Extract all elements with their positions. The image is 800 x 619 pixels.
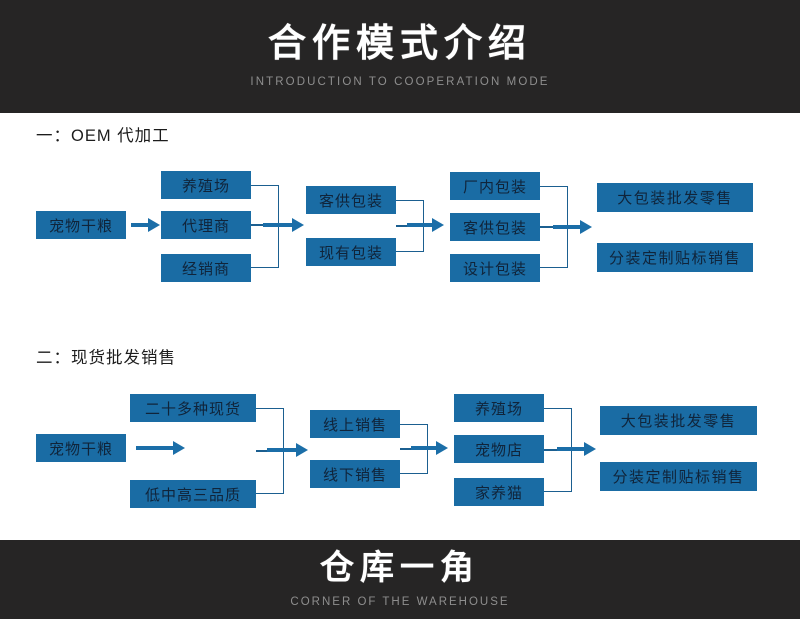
page-title: 合作模式介绍 xyxy=(268,25,532,65)
box-section2-col1-0: 宠物干粮 xyxy=(36,434,126,462)
arrow-section2-col3-col4 xyxy=(411,446,437,450)
box-section1-col3-0: 客供包装 xyxy=(306,186,396,214)
box-section1-col3-1: 现有包装 xyxy=(306,238,396,266)
arrow-section1-col3-col4 xyxy=(407,223,433,227)
box-section2-col4-2: 家养猫 xyxy=(454,478,544,506)
footer-banner: 仓库一角 CORNER OF THE WAREHOUSE xyxy=(0,540,800,619)
box-section1-col2-1: 代理商 xyxy=(161,211,251,239)
box-section2-col3-1: 线下销售 xyxy=(310,460,400,488)
page-root: 合作模式介绍 INTRODUCTION TO COOPERATION MODE … xyxy=(0,0,800,619)
box-section1-col5-1: 分装定制贴标销售 xyxy=(597,243,753,272)
box-section1-col4-1: 客供包装 xyxy=(450,213,540,241)
box-section1-col4-0: 厂内包装 xyxy=(450,172,540,200)
box-section1-col2-0: 养殖场 xyxy=(161,171,251,199)
header-banner: 合作模式介绍 INTRODUCTION TO COOPERATION MODE xyxy=(0,0,800,113)
arrow-section1-col1-col2 xyxy=(131,223,149,227)
box-section1-col1-0: 宠物干粮 xyxy=(36,211,126,239)
footer-title: 仓库一角 xyxy=(320,551,480,587)
box-section1-col5-0: 大包装批发零售 xyxy=(597,183,753,212)
page-subtitle: INTRODUCTION TO COOPERATION MODE xyxy=(250,76,549,88)
box-section2-col5-0: 大包装批发零售 xyxy=(600,406,757,435)
arrow-section2-col2-col3 xyxy=(267,448,297,452)
box-section2-col4-0: 养殖场 xyxy=(454,394,544,422)
box-section2-col2-1: 低中高三品质 xyxy=(130,480,256,508)
arrow-section1-col4-col5 xyxy=(553,225,581,229)
arrow-section1-col2-col3 xyxy=(263,223,293,227)
arrow-section2-col4-col5 xyxy=(557,447,585,451)
box-section2-col5-1: 分装定制贴标销售 xyxy=(600,462,757,491)
box-section2-col2-0: 二十多种现货 xyxy=(130,394,256,422)
box-section1-col2-2: 经销商 xyxy=(161,254,251,282)
box-section2-col4-1: 宠物店 xyxy=(454,435,544,463)
arrow-section2-col1-col2 xyxy=(136,446,174,450)
box-section2-col3-0: 线上销售 xyxy=(310,410,400,438)
footer-subtitle: CORNER OF THE WAREHOUSE xyxy=(290,596,509,608)
section-1-heading: 一：OEM 代加工 xyxy=(36,122,170,146)
box-section1-col4-2: 设计包装 xyxy=(450,254,540,282)
section-2-heading: 二：现货批发销售 xyxy=(36,344,176,368)
